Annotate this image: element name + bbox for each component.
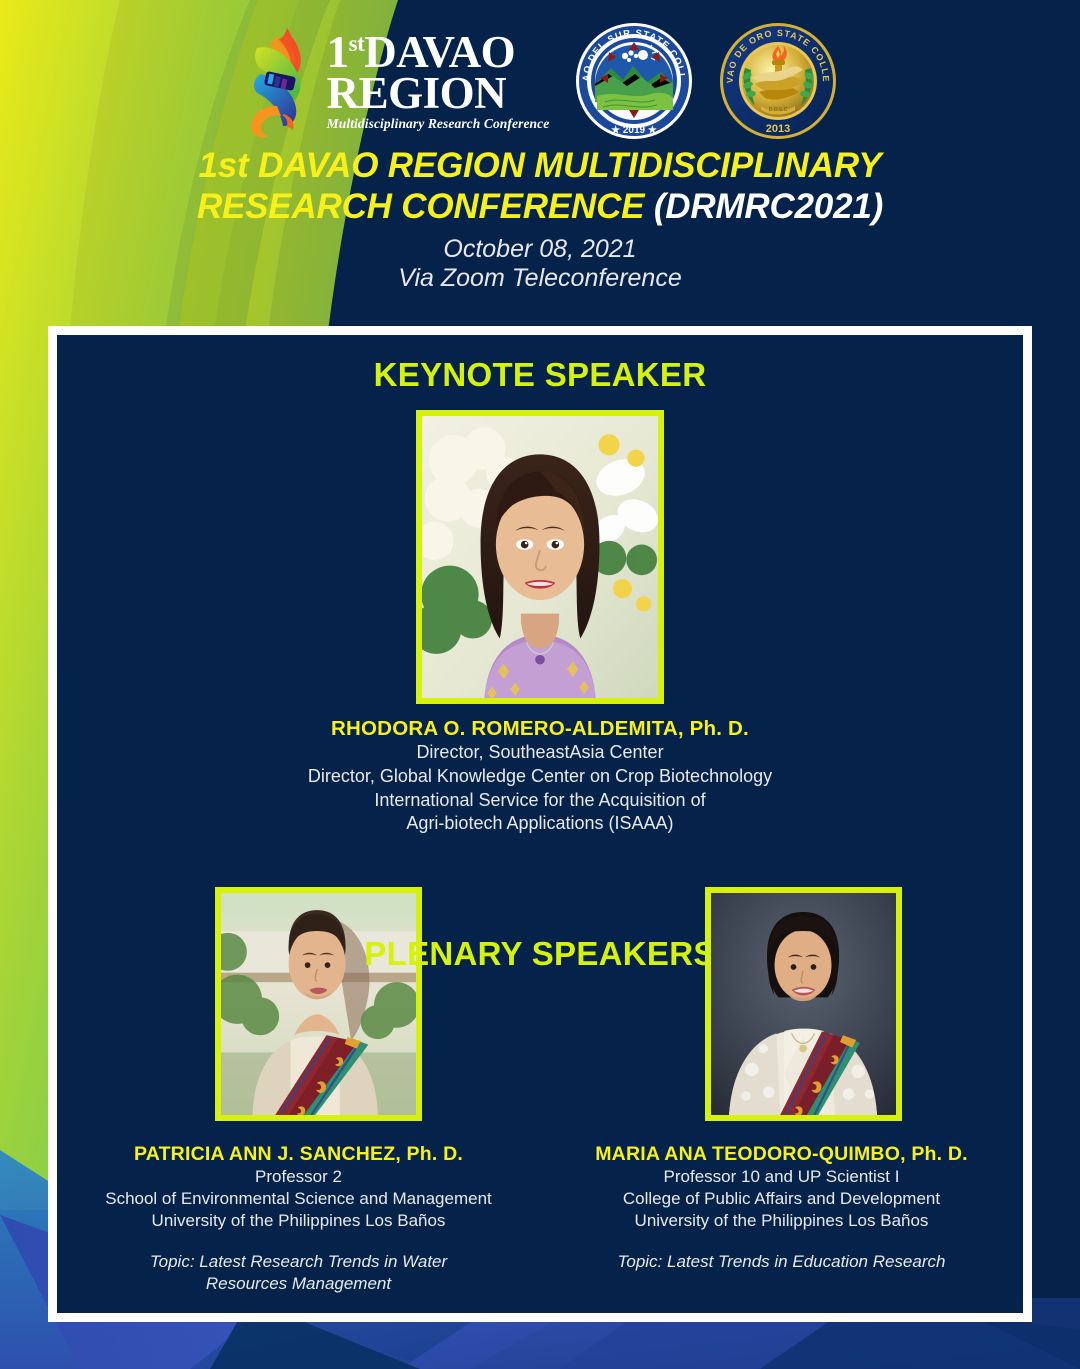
keynote-section-heading: KEYNOTE SPEAKER — [57, 335, 1023, 394]
conference-date: October 08, 2021 — [0, 235, 1080, 264]
keynote-affiliation-3: Agri-biotech Applications (ISAAA) — [57, 812, 1023, 836]
poster-header: 1stDAVAO REGION Multidisciplinary Resear… — [0, 0, 1080, 293]
conference-title-line2: RESEARCH CONFERENCE — [197, 187, 644, 226]
conference-venue: Via Zoom Teleconference — [0, 264, 1080, 293]
plenary-right-affiliation-2: University of the Philippines Los Baños — [554, 1210, 1009, 1232]
davao-del-sur-state-college-seal: DAVAO DEL SUR STATE COLLEGE ★ 2019 ★ — [575, 22, 693, 140]
keynote-affiliation-1: Director, Global Knowledge Center on Cro… — [57, 765, 1023, 789]
keynote-affiliation-0: Director, SoutheastAsia Center — [57, 741, 1023, 765]
drmrc-logo-tagline: Multidisciplinary Research Conference — [327, 118, 550, 130]
plenary-right-topic: Topic: Latest Trends in Education Resear… — [554, 1251, 1009, 1273]
keynote-speaker-name: RHODORA O. ROMERO-ALDEMITA, Ph. D. — [57, 717, 1023, 741]
plenary-speaker-right-info: MARIA ANA TEODORO-QUIMBO, Ph. D. Profess… — [540, 1143, 1023, 1295]
svg-text:D.O.S.C: D.O.S.C — [769, 107, 788, 113]
drmrc-logo-wordmark: 1stDAVAO REGION Multidisciplinary Resear… — [327, 32, 550, 130]
conference-poster: 1stDAVAO REGION Multidisciplinary Resear… — [0, 0, 1080, 1369]
plenary-right-name: MARIA ANA TEODORO-QUIMBO, Ph. D. — [554, 1143, 1009, 1166]
plenary-left-name: PATRICIA ANN J. SANCHEZ, Ph. D. — [71, 1143, 526, 1166]
keynote-speaker-info: RHODORA O. ROMERO-ALDEMITA, Ph. D. Direc… — [57, 717, 1023, 836]
plenary-photos-row: PLENARY SPEAKERS — [57, 887, 1023, 1137]
svg-text:2013: 2013 — [766, 123, 790, 135]
plenary-left-topic-1: Resources Management — [71, 1273, 526, 1295]
plenary-left-topic-0: Topic: Latest Research Trends in Water — [71, 1251, 526, 1273]
drmrc-logo-line2: REGION — [327, 73, 550, 114]
plenary-right-affiliation-0: Professor 10 and UP Scientist I — [554, 1166, 1009, 1188]
conference-schedule: October 08, 2021 Via Zoom Teleconference — [0, 235, 1080, 293]
plenary-left-affiliation-1: School of Environmental Science and Mana… — [71, 1188, 526, 1210]
svg-text:★ 2019 ★: ★ 2019 ★ — [611, 125, 657, 136]
plenary-right-affiliation-1: College of Public Affairs and Developmen… — [554, 1188, 1009, 1210]
conference-title: 1st DAVAO REGION MULTIDISCIPLINARY RESEA… — [0, 146, 1080, 228]
plenary-left-affiliation-0: Professor 2 — [71, 1166, 526, 1188]
plenary-speaker-photo-right — [705, 887, 902, 1121]
plenary-left-topic: Topic: Latest Research Trends in Water R… — [71, 1251, 526, 1295]
speakers-panel: KEYNOTE SPEAKER — [57, 335, 1023, 1313]
conference-titles: 1st DAVAO REGION MULTIDISCIPLINARY RESEA… — [0, 146, 1080, 293]
plenary-section-heading: PLENARY SPEAKERS — [364, 935, 715, 972]
plenary-speaker-left-info: PATRICIA ANN J. SANCHEZ, Ph. D. Professo… — [57, 1143, 540, 1295]
speakers-panel-frame: KEYNOTE SPEAKER — [48, 326, 1032, 1322]
keynote-photo-wrap — [57, 410, 1023, 704]
plenary-left-affiliation-2: University of the Philippines Los Baños — [71, 1210, 526, 1232]
plenary-speaker-photo-left — [215, 887, 422, 1121]
keynote-speaker-photo — [416, 410, 664, 704]
conference-title-line1: 1st DAVAO REGION MULTIDISCIPLINARY — [199, 146, 882, 185]
logo-row: 1stDAVAO REGION Multidisciplinary Resear… — [0, 0, 1080, 140]
plenary-right-topic-0: Topic: Latest Trends in Education Resear… — [554, 1251, 1009, 1273]
drmrc-logo-line1: 1stDAVAO — [327, 32, 550, 73]
drmrc-conference-logo: 1stDAVAO REGION Multidisciplinary Resear… — [243, 22, 550, 140]
ordinal-suffix: st — [349, 31, 365, 56]
conference-acronym: (DRMRC2021) — [654, 187, 883, 226]
flame-helix-icon — [243, 22, 319, 140]
plenary-info-row: PATRICIA ANN J. SANCHEZ, Ph. D. Professo… — [57, 1143, 1023, 1295]
davao-de-oro-state-college-seal: D.O.S.C • DAVAO DE ORO STATE COLLEGE • 2… — [719, 22, 837, 140]
keynote-affiliation-2: International Service for the Acquisitio… — [57, 789, 1023, 813]
